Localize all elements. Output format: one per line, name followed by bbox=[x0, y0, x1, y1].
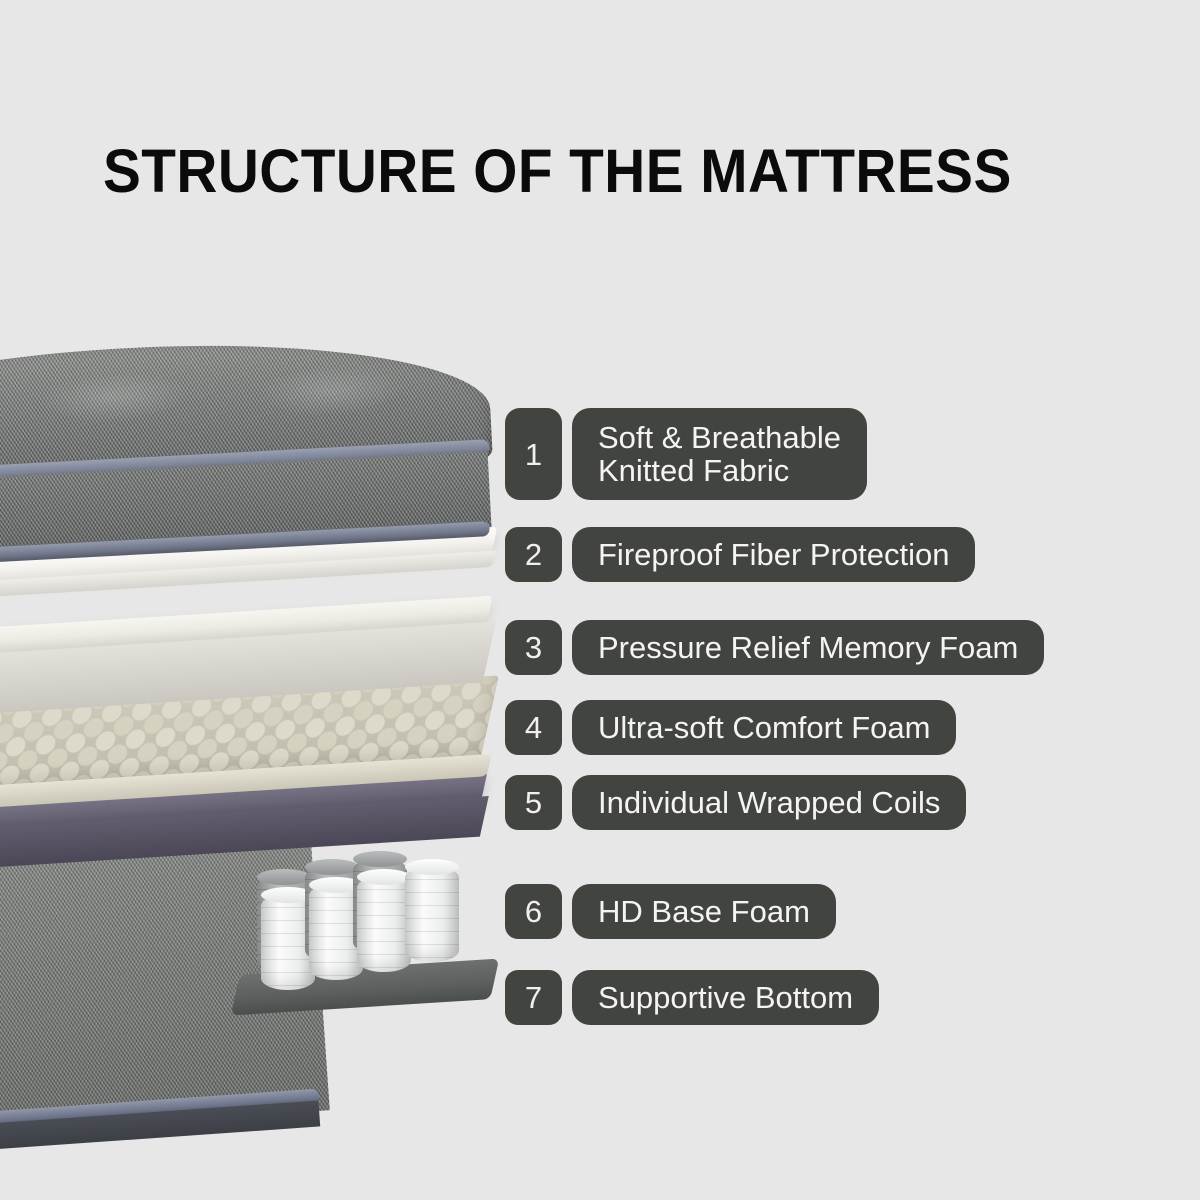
legend-label-2[interactable]: Fireproof Fiber Protection bbox=[572, 527, 975, 582]
legend-number-1: 1 bbox=[505, 408, 562, 500]
legend-row-5[interactable]: 5 Individual Wrapped Coils bbox=[505, 775, 966, 830]
legend-number-6: 6 bbox=[505, 884, 562, 939]
legend-number-2: 2 bbox=[505, 527, 562, 582]
legend-row-4[interactable]: 4 Ultra-soft Comfort Foam bbox=[505, 700, 956, 755]
legend-label-7[interactable]: Supportive Bottom bbox=[572, 970, 879, 1025]
legend-row-7[interactable]: 7 Supportive Bottom bbox=[505, 970, 879, 1025]
legend-number-4: 4 bbox=[505, 700, 562, 755]
legend-number-3: 3 bbox=[505, 620, 562, 675]
legend-row-1[interactable]: 1 Soft & Breathable Knitted Fabric bbox=[505, 408, 867, 500]
legend-label-6[interactable]: HD Base Foam bbox=[572, 884, 836, 939]
legend-label-1[interactable]: Soft & Breathable Knitted Fabric bbox=[572, 408, 867, 500]
legend-number-5: 5 bbox=[505, 775, 562, 830]
legend-row-6[interactable]: 6 HD Base Foam bbox=[505, 884, 836, 939]
legend-number-7: 7 bbox=[505, 970, 562, 1025]
legend-row-2[interactable]: 2 Fireproof Fiber Protection bbox=[505, 527, 975, 582]
legend-label-3[interactable]: Pressure Relief Memory Foam bbox=[572, 620, 1044, 675]
legend-row-3[interactable]: 3 Pressure Relief Memory Foam bbox=[505, 620, 1044, 675]
legend-label-4[interactable]: Ultra-soft Comfort Foam bbox=[572, 700, 956, 755]
infographic-canvas: STRUCTURE OF THE MATTRESS bbox=[0, 0, 1200, 1200]
legend-label-5[interactable]: Individual Wrapped Coils bbox=[572, 775, 966, 830]
layer-legend: 1 Soft & Breathable Knitted Fabric 2 Fir… bbox=[0, 0, 1200, 1200]
